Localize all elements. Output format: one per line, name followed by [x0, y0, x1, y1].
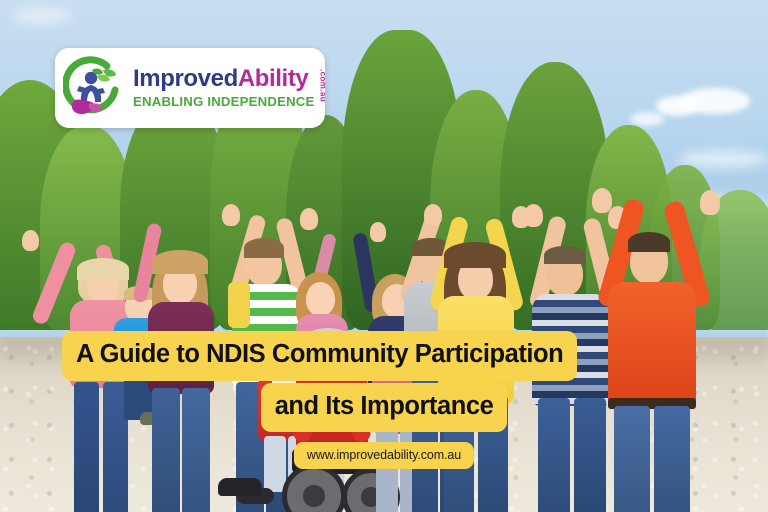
blog-hero-banner: ImprovedAbility ENABLING INDEPENDENCE .c…: [0, 0, 768, 512]
hero-title: A Guide to NDIS Community Participation …: [0, 331, 768, 432]
improvedability-logo-icon: [63, 56, 129, 120]
website-url-badge[interactable]: www.improvedability.com.au: [294, 442, 474, 469]
brand-name: ImprovedAbility: [133, 67, 315, 91]
brand-logo-card[interactable]: ImprovedAbility ENABLING INDEPENDENCE .c…: [55, 48, 325, 128]
brand-name-part-2: Ability: [238, 65, 309, 92]
brand-tld: .com.au: [319, 69, 328, 102]
brand-tagline: ENABLING INDEPENDENCE: [133, 95, 315, 108]
brand-wordmark: ImprovedAbility ENABLING INDEPENDENCE .c…: [133, 67, 315, 108]
hero-title-line-2: and Its Importance: [261, 383, 508, 433]
brand-name-part-1: Improved: [133, 65, 238, 92]
hero-title-line-1: A Guide to NDIS Community Participation: [62, 331, 577, 381]
